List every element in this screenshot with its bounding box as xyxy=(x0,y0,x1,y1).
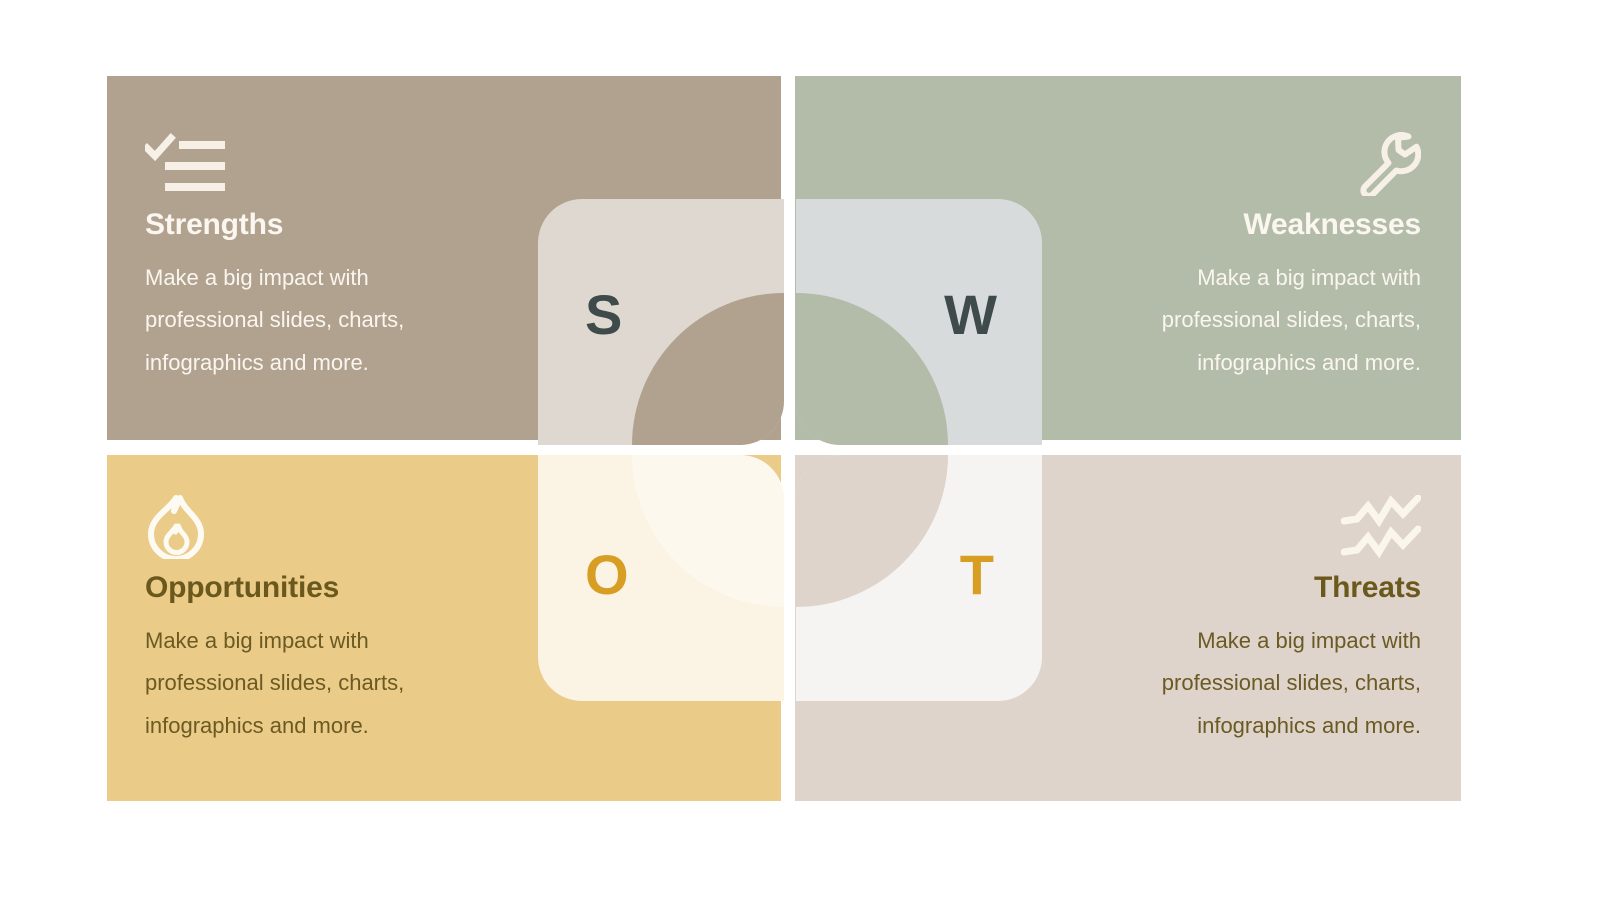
strengths-content: Strengths Make a big impact with profess… xyxy=(145,132,485,384)
badge-letter-weaknesses: W xyxy=(944,287,997,343)
leaf-accent-threats xyxy=(796,455,948,607)
weaknesses-content: Weaknesses Make a big impact with profes… xyxy=(1081,132,1421,384)
badge-card-opportunities[interactable]: O xyxy=(538,455,784,701)
weaknesses-description: Make a big impact with professional slid… xyxy=(1081,257,1421,384)
wrench-icon xyxy=(1081,132,1421,196)
badge-letter-strengths: S xyxy=(585,287,622,343)
opportunities-title: Opportunities xyxy=(145,571,485,604)
leaf-accent-opportunities xyxy=(632,455,784,607)
badge-letter-opportunities: O xyxy=(585,547,629,603)
badge-letter-threats: T xyxy=(960,547,994,603)
checklist-icon xyxy=(145,132,485,196)
opportunities-content: Opportunities Make a big impact with pro… xyxy=(145,495,485,747)
strengths-title: Strengths xyxy=(145,208,485,241)
swot-diagram: Strengths Make a big impact with profess… xyxy=(0,0,1600,900)
zigzag-lines-icon xyxy=(1081,495,1421,559)
leaf-accent-strengths xyxy=(632,293,784,445)
threats-title: Threats xyxy=(1081,571,1421,604)
weaknesses-title: Weaknesses xyxy=(1081,208,1421,241)
leaf-accent-weaknesses xyxy=(796,293,948,445)
badge-card-strengths[interactable]: S xyxy=(538,199,784,445)
strengths-description: Make a big impact with professional slid… xyxy=(145,257,485,384)
opportunities-description: Make a big impact with professional slid… xyxy=(145,620,485,747)
threats-description: Make a big impact with professional slid… xyxy=(1081,620,1421,747)
threats-content: Threats Make a big impact with professio… xyxy=(1081,495,1421,747)
badge-card-weaknesses[interactable]: W xyxy=(796,199,1042,445)
flame-icon xyxy=(145,495,485,559)
badge-card-threats[interactable]: T xyxy=(796,455,1042,701)
